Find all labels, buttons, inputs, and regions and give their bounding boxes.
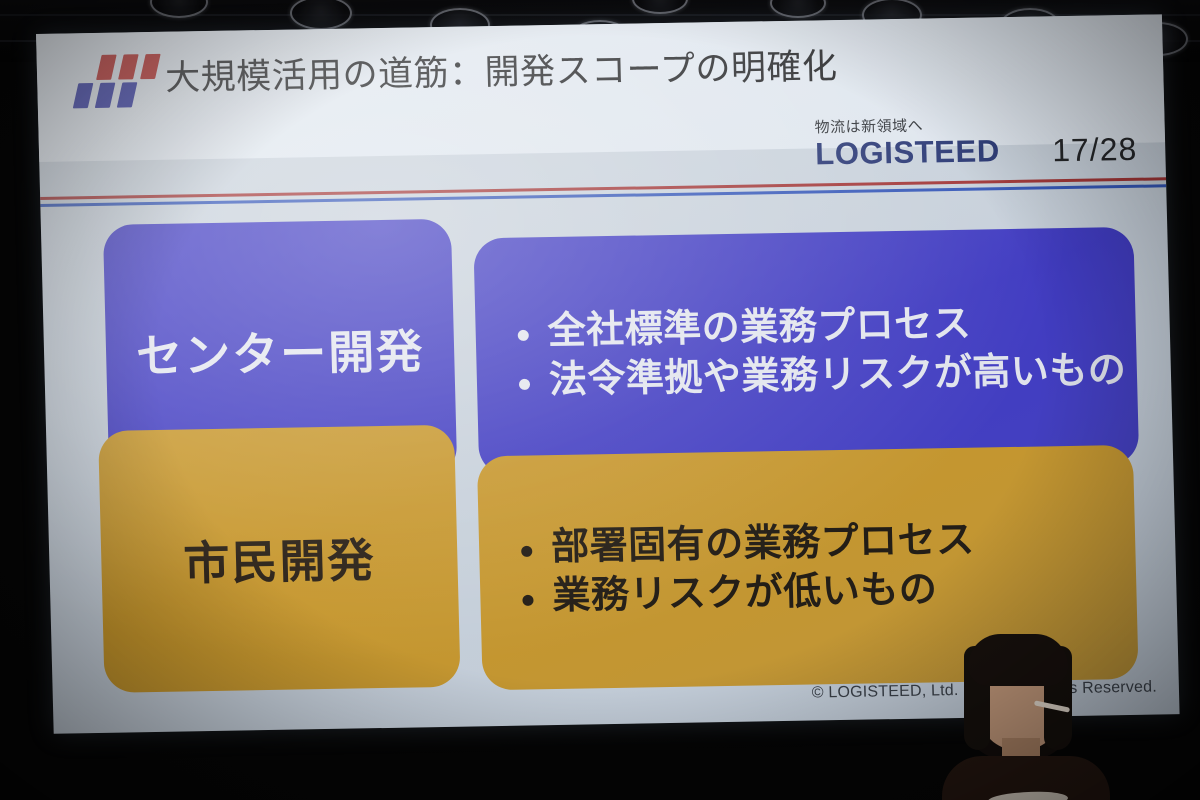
list-item: 法令準拠や業務リスクが高いもの (510, 346, 1117, 405)
row-label-text: 市民開発 (101, 523, 459, 595)
hitachi-tri-bar-logo-icon (69, 54, 162, 112)
slide-header: 大規模活用の道筋：開発スコープの明確化 物流は新領域へ LOGISTEED 17… (36, 14, 1165, 162)
list-item: 業務リスクが低いもの (514, 562, 1117, 621)
brand-name: LOGISTEED (815, 135, 1016, 169)
bullet-list: 部署固有の業務プロセス 業務リスクが低いもの (513, 514, 1117, 622)
row-label-citizen-development: 市民開発 (98, 425, 461, 693)
page-title: 大規模活用の道筋：開発スコープの明確化 (164, 36, 965, 101)
presenter-speaker (930, 630, 1140, 800)
row-label-text: センター開発 (105, 315, 455, 387)
row-content-center-development: 全社標準の業務プロセス 法令準拠や業務リスクが高いもの (473, 227, 1139, 476)
bullet-list: 全社標準の業務プロセス 法令準拠や業務リスクが高いもの (509, 298, 1117, 406)
stage-photo: 大規模活用の道筋：開発スコープの明確化 物流は新領域へ LOGISTEED 17… (0, 0, 1200, 800)
presentation-slide: 大規模活用の道筋：開発スコープの明確化 物流は新領域へ LOGISTEED 17… (36, 14, 1180, 733)
slide-page-number: 17/28 (1052, 131, 1138, 169)
presenter-bangs (968, 634, 1068, 686)
logisteed-brand: 物流は新領域へ LOGISTEED (814, 113, 1015, 169)
